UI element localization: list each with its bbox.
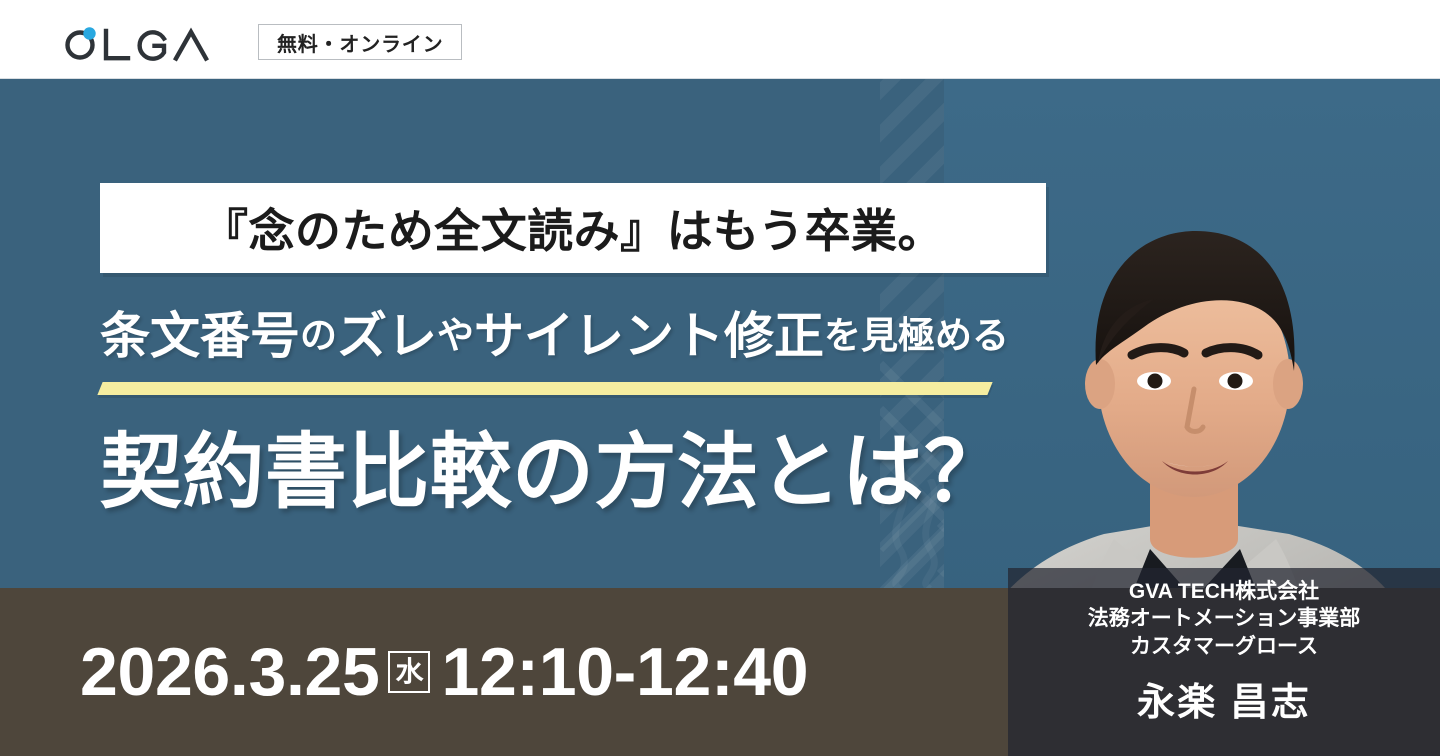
webinar-banner: 無料・オンライン (0, 0, 1440, 756)
speaker-team: カスタマーグロース (1130, 633, 1318, 660)
headline-l2-part6: を見極める (824, 305, 1009, 359)
headline-l2-part1: 条文番号 (100, 296, 300, 368)
headline-line-2: 条文番号 の ズレ や サイレント修正 を見極める (100, 301, 1000, 363)
headline-band: 『念のため全文読み』はもう卒業。 (100, 183, 1046, 273)
schedule-date: 2026.3.25 (80, 633, 379, 711)
speaker-company: GVA TECH株式会社 (1129, 578, 1319, 605)
headline-l2-part3: ズレ (337, 296, 437, 368)
headline-l2-part4: や (437, 305, 474, 359)
headline-l2-part5: サイレント修正 (474, 296, 824, 368)
hero-stage: 『念のため全文読み』はもう卒業。 条文番号 の ズレ や サイレント修正 を見極… (0, 79, 1440, 756)
schedule-row: 2026.3.25 水 12:10-12:40 (80, 633, 808, 711)
speaker-name: 永楽 昌志 (1137, 671, 1311, 726)
headline-band-text: 『念のため全文読み』はもう卒業。 (202, 195, 944, 261)
schedule-time: 12:10-12:40 (441, 633, 808, 711)
badge-free-online: 無料・オンライン (258, 24, 462, 60)
speaker-caption: GVA TECH株式会社 法務オートメーション事業部 カスタマーグロース 永楽 … (1008, 568, 1440, 756)
header-bar: 無料・オンライン (0, 0, 1440, 79)
headline-l2-part2: の (300, 305, 337, 359)
accent-underline (97, 382, 992, 395)
olga-logo (58, 19, 218, 63)
headline-line-3: 契約書比較の方法とは？ (100, 409, 1000, 519)
speaker-department: 法務オートメーション事業部 (1088, 605, 1361, 632)
schedule-weekday-badge: 水 (388, 651, 430, 693)
